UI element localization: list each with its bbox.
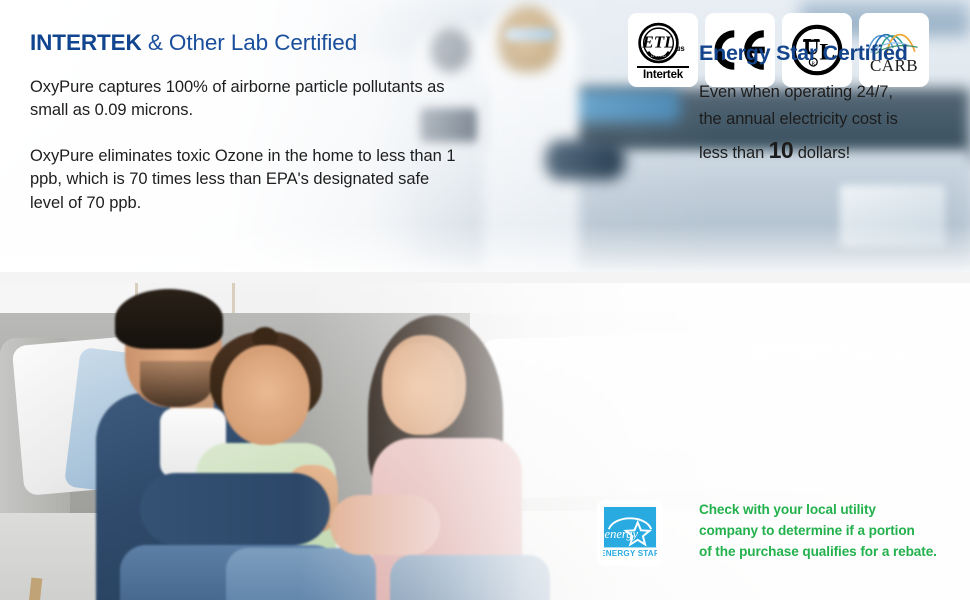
rebate-line-1: Check with your local utility bbox=[699, 499, 970, 520]
lab-copy-block: INTERTEK & Other Lab Certified OxyPure c… bbox=[30, 29, 460, 215]
svg-text:ENERGY STAR: ENERGY STAR bbox=[603, 549, 657, 558]
rebate-note: Check with your local utility company to… bbox=[699, 499, 970, 563]
etl-intertek-badge: ETL LISTED us Intertek bbox=[628, 13, 698, 87]
svg-text:LISTED: LISTED bbox=[651, 54, 666, 58]
promo-page: INTERTEK & Other Lab Certified OxyPure c… bbox=[0, 0, 970, 600]
etl-divider-rule bbox=[637, 66, 689, 68]
svg-text:us: us bbox=[675, 44, 685, 53]
rebate-line-2: company to determine if a portion bbox=[699, 520, 970, 541]
energy-star-title: Energy Star Certified bbox=[699, 41, 967, 66]
energy-star-line-1: Even when operating 24/7, bbox=[699, 79, 967, 106]
etl-brand-label: Intertek bbox=[643, 69, 683, 81]
cost-amount: 10 bbox=[769, 137, 794, 163]
energy-star-line-3: less than 10 dollars! bbox=[699, 132, 967, 169]
cost-prefix: less than bbox=[699, 144, 769, 162]
rebate-line-3: of the purchase qualifies for a rebate. bbox=[699, 541, 970, 562]
page-title: INTERTEK & Other Lab Certified bbox=[30, 29, 460, 56]
page-title-rest: & Other Lab Certified bbox=[142, 30, 357, 55]
energy-star-line-2: the annual electricity cost is bbox=[699, 106, 967, 133]
brand-name: INTERTEK bbox=[30, 30, 142, 55]
cost-suffix: dollars! bbox=[793, 144, 850, 162]
top-bottom-fade bbox=[0, 224, 970, 272]
energy-star-copy-block: Energy Star Certified Even when operatin… bbox=[699, 41, 967, 170]
paragraph-particles: OxyPure captures 100% of airborne partic… bbox=[30, 76, 460, 123]
panel-divider bbox=[0, 272, 970, 283]
svg-text:energy: energy bbox=[605, 527, 639, 541]
svg-text:ETL: ETL bbox=[641, 33, 674, 52]
etl-listed-icon: ETL LISTED us bbox=[636, 21, 690, 65]
energy-star-badge: energy ENERGY STAR bbox=[597, 500, 663, 566]
paragraph-ozone: OxyPure eliminates toxic Ozone in the ho… bbox=[30, 145, 460, 215]
energy-star-logo-icon: energy ENERGY STAR bbox=[603, 506, 657, 560]
